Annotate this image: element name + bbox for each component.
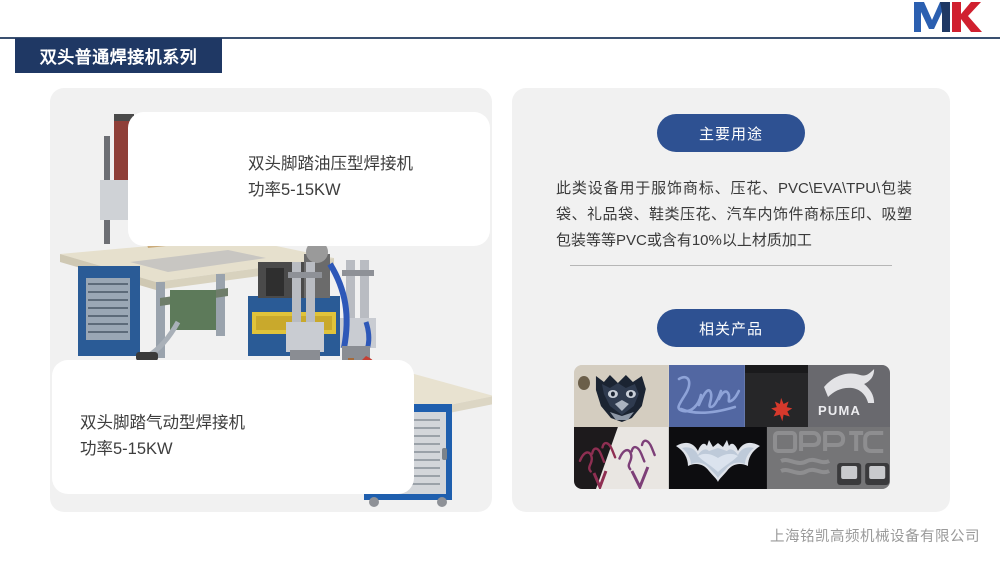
sample-batman-emblem[interactable] (669, 427, 767, 489)
product-1-power: 功率5-15KW (248, 177, 413, 203)
product-2-name: 双头脚踏气动型焊接机 (80, 410, 245, 436)
gallery-row-top: PUMA (574, 365, 890, 427)
slide-root: 双头普通焊接机系列 (0, 0, 1000, 562)
sample-callaway-script[interactable] (574, 427, 669, 489)
page-title: 双头普通焊接机系列 (40, 43, 198, 68)
product-2-label: 双头脚踏气动型焊接机 功率5-15KW (80, 410, 245, 462)
usage-description: 此类设备用于服饰商标、压花、PVC\EVA\TPU\包装袋、礼品袋、鞋类压花、汽… (556, 176, 912, 254)
sample-red-maple-leaf[interactable] (745, 365, 808, 427)
svg-text:PUMA: PUMA (818, 403, 861, 418)
product-1-label: 双头脚踏油压型焊接机 功率5-15KW (248, 151, 413, 203)
product-2-power: 功率5-15KW (80, 436, 245, 462)
sample-embossed-panel-text[interactable] (767, 427, 890, 489)
related-products-gallery: PUMA (574, 365, 890, 489)
footer-company-name: 上海铭凯高频机械设备有限公司 (770, 525, 980, 546)
sample-puma-logo-grey[interactable]: PUMA (808, 365, 890, 427)
main-use-button-label: 主要用途 (699, 123, 763, 144)
section-divider (570, 265, 892, 266)
main-use-button[interactable]: 主要用途 (657, 114, 805, 152)
related-products-button[interactable]: 相关产品 (657, 309, 805, 347)
left-product-panel: 双头脚踏油压型焊接机 功率5-15KW 双头脚踏气动型焊接机 功率5-15KW (50, 88, 492, 512)
product-1-name: 双头脚踏油压型焊接机 (248, 151, 413, 177)
mk-logo (910, 0, 982, 38)
gallery-row-bottom (574, 427, 890, 489)
right-info-panel: 主要用途 此类设备用于服饰商标、压花、PVC\EVA\TPU\包装袋、礼品袋、鞋… (512, 88, 950, 512)
sample-tiger-head-emblem[interactable] (574, 365, 669, 427)
related-products-button-label: 相关产品 (699, 318, 763, 339)
sample-cursive-script-blue[interactable] (669, 365, 745, 427)
page-title-block: 双头普通焊接机系列 (15, 38, 222, 73)
